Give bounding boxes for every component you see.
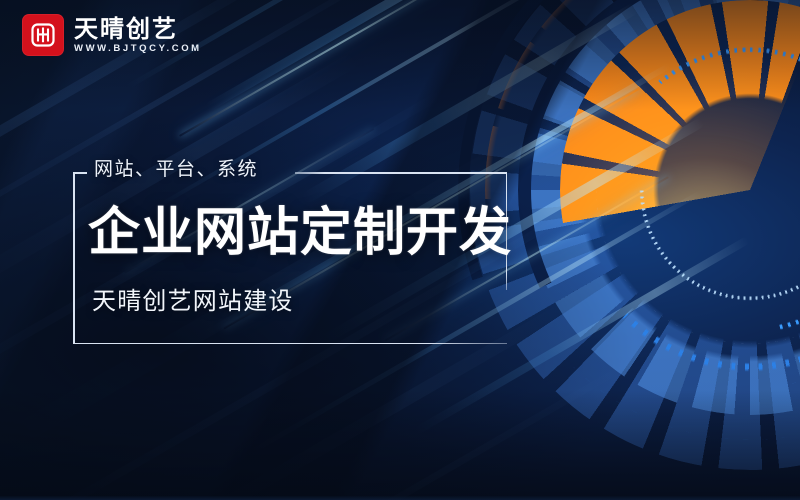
hero-eyebrow: 网站、平台、系统 — [94, 160, 258, 179]
hero-headline: 企业网站定制开发 — [88, 205, 512, 261]
promo-banner: 天晴创艺 WWW.BJTQCY.COM 网站、平台、系统 企业网站定制开发 天晴… — [0, 0, 800, 500]
tianqing-logo-mark-icon — [22, 14, 64, 56]
brand-logo[interactable]: 天晴创艺 WWW.BJTQCY.COM — [22, 14, 202, 56]
brand-name-cn: 天晴创艺 — [74, 17, 202, 41]
brand-logo-text: 天晴创艺 WWW.BJTQCY.COM — [74, 17, 202, 54]
hero-subline: 天晴创艺网站建设 — [92, 289, 294, 313]
bottom-edge-strip — [0, 496, 800, 500]
brand-url: WWW.BJTQCY.COM — [74, 44, 202, 54]
